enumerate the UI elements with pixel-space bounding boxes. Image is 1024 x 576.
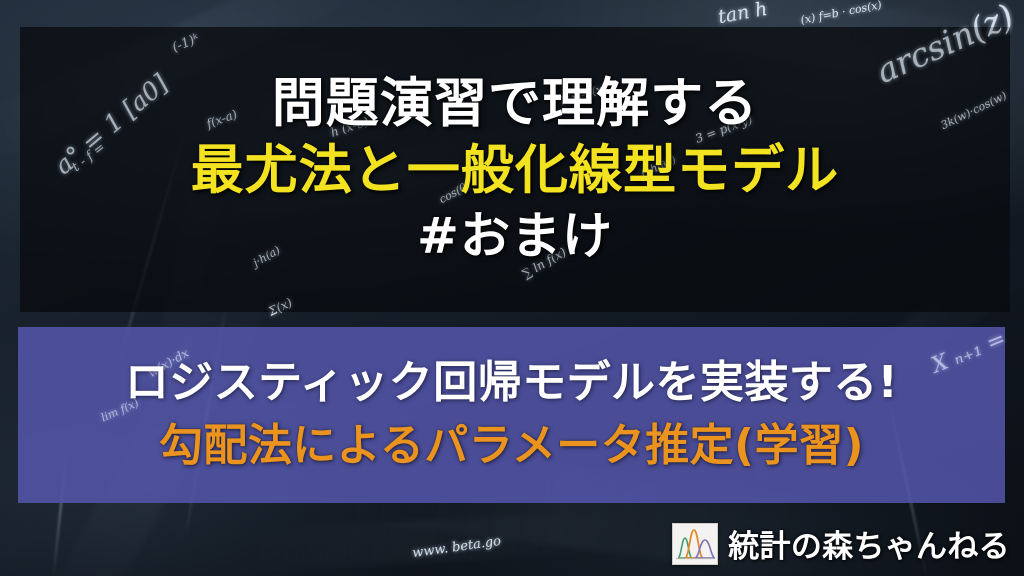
channel-name: 統計の森ちゃんねる <box>728 521 1010 566</box>
title-text-stack: 問題演習で理解する 最尤法と一般化線型モデル #おまけ <box>20 27 1010 312</box>
title-line-2-highlight: 最尤法と一般化線型モデル <box>191 139 840 204</box>
density-curves-logo-icon <box>672 523 718 565</box>
channel-brand: 統計の森ちゃんねる <box>672 521 1010 566</box>
subtitle-line-1: ロジスティック回帰モデルを実装する! <box>125 357 898 410</box>
subtitle-line-2-highlight: 勾配法によるパラメータ推定(学習) <box>159 420 864 473</box>
title-line-1: 問題演習で理解する <box>272 72 759 137</box>
title-line-3-tag: #おまけ <box>417 206 613 267</box>
subtitle-text-stack: ロジスティック回帰モデルを実装する! 勾配法によるパラメータ推定(学習) <box>18 327 1005 503</box>
thumbnail-canvas: tan h(x) f=b · cos(x)arcsin(z)3k(w)·cos(… <box>0 0 1024 576</box>
